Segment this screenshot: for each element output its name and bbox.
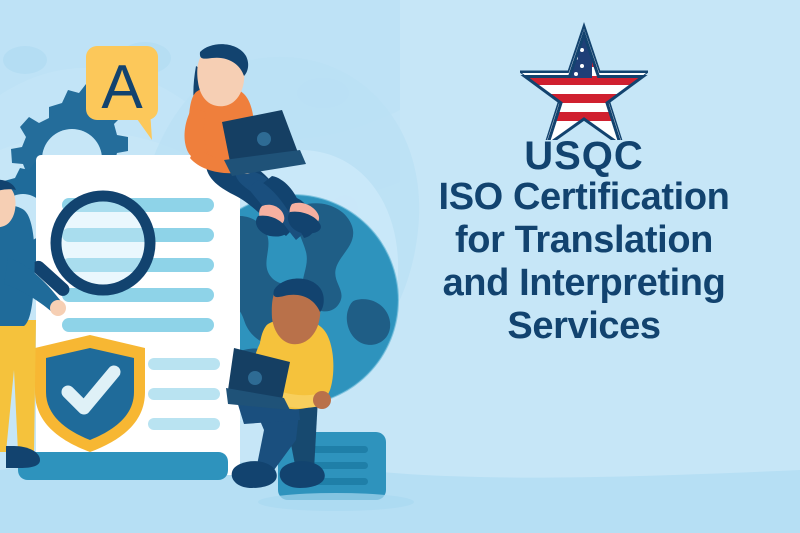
headline-line-2: for Translation <box>378 219 790 262</box>
person-hand <box>50 300 66 316</box>
star-flag-fill <box>520 26 648 140</box>
person-trousers <box>0 320 36 452</box>
brand-block: USQC <box>378 18 790 176</box>
headline-line-3: and Interpreting <box>378 262 790 305</box>
document-line <box>148 358 220 370</box>
document-line <box>62 318 214 332</box>
headline-line-4: Services <box>378 305 790 348</box>
document-line <box>148 418 220 430</box>
document-line <box>148 388 220 400</box>
usa-star-icon <box>520 18 648 140</box>
page-title: ISO Certification for Translation and In… <box>378 176 790 348</box>
brand-name: USQC <box>378 136 790 176</box>
person-shoe <box>6 446 40 468</box>
headline-line-1: ISO Certification <box>378 176 790 219</box>
man-hand <box>313 391 331 409</box>
laptop-icon <box>222 110 306 176</box>
speech-bubble-letter: A <box>101 53 143 122</box>
poster-canvas: A <box>0 0 800 533</box>
